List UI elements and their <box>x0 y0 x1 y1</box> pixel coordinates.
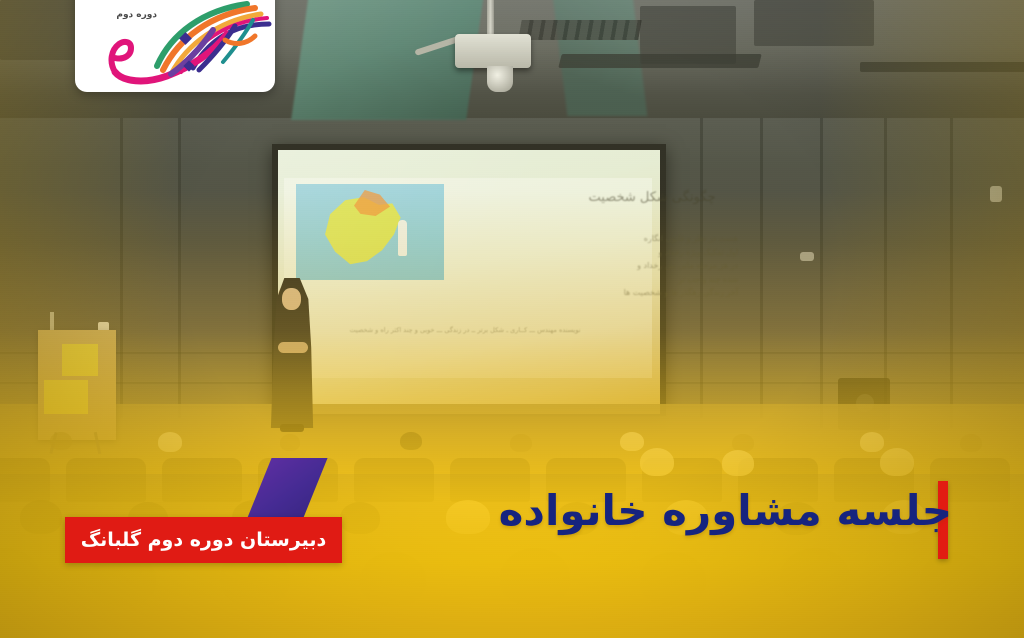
projector-mount-rod <box>487 0 494 36</box>
ceiling-beam <box>860 62 1024 72</box>
audience-head <box>446 500 490 534</box>
audience-head <box>360 552 426 606</box>
audience-head <box>158 432 182 452</box>
ceiling-panel <box>754 0 874 46</box>
wall-rib <box>178 118 181 418</box>
poster-canvas: چگونگی شکل شخصیت هست در نظر و قانون انگا… <box>0 0 1024 638</box>
presenter <box>256 278 328 438</box>
sticky-note <box>62 344 98 376</box>
audience-head <box>510 434 532 452</box>
wall-rib <box>120 118 123 418</box>
seat <box>162 458 242 502</box>
audience-head <box>860 432 884 452</box>
audience-head <box>500 548 570 606</box>
golbang-logo-svg <box>75 0 275 92</box>
ceiling-projector <box>455 34 531 68</box>
wall-rib <box>760 118 763 418</box>
presenter-face <box>282 288 301 310</box>
seat <box>0 458 50 502</box>
audience-head <box>780 548 850 606</box>
logo-subtitle: دوره دوم <box>116 10 157 20</box>
slide-title: چگونگی شکل شخصیت <box>572 190 732 206</box>
main-title: جلسه مشاوره خانواده <box>499 486 952 535</box>
slide-bullet-list: هست در نظر و قانون انگاره اول تفکیک ویژه… <box>542 234 738 302</box>
logo-card: دوره دوم <box>75 0 275 92</box>
audience-head <box>960 434 982 452</box>
sticky-note <box>44 380 88 414</box>
audience-head <box>620 432 644 451</box>
audience-head <box>340 502 380 534</box>
audience-head <box>880 448 914 476</box>
seat <box>354 458 434 502</box>
audience-head <box>280 434 300 451</box>
audience-head <box>722 450 754 476</box>
projector-lens <box>487 66 513 92</box>
school-name-text: دبیرستان دوره دوم گلبانگ <box>81 529 327 551</box>
map-figure <box>398 220 407 256</box>
audience-head <box>640 552 706 606</box>
ceiling-beam <box>558 54 761 68</box>
slide-bullet: اول تفکیک ویژه رخداد و <box>542 248 738 257</box>
seat <box>66 458 146 502</box>
school-name-badge: دبیرستان دوره دوم گلبانگ <box>65 517 342 563</box>
wall-lamp <box>990 186 1002 202</box>
audience-head <box>400 432 422 450</box>
slide-bullet: شده چند واجب تر <box>542 275 738 284</box>
audience-head <box>920 552 990 608</box>
slide-footnote: نویسنده مهندس ـــ کــاری ـ شکل برتر ــ د… <box>300 326 630 334</box>
slide-map-image <box>296 184 444 280</box>
audience-head <box>50 432 72 450</box>
slide-bullet: در هر مرحله مانی بین رخداد و <box>542 261 738 270</box>
presenter-hands <box>278 342 308 353</box>
wall-lamp <box>800 252 814 261</box>
flipchart-easel <box>38 330 116 440</box>
slide-bullet: هست در نظر و قانون انگاره <box>542 234 738 243</box>
slide-bullet: آخر زندگی رهگذر ها و شخصیت ها <box>542 288 738 297</box>
golbang-logo <box>75 0 275 92</box>
audience-head <box>20 500 62 534</box>
audience-head <box>0 548 40 606</box>
audience-head <box>640 448 674 476</box>
ceiling-truss <box>518 20 642 40</box>
